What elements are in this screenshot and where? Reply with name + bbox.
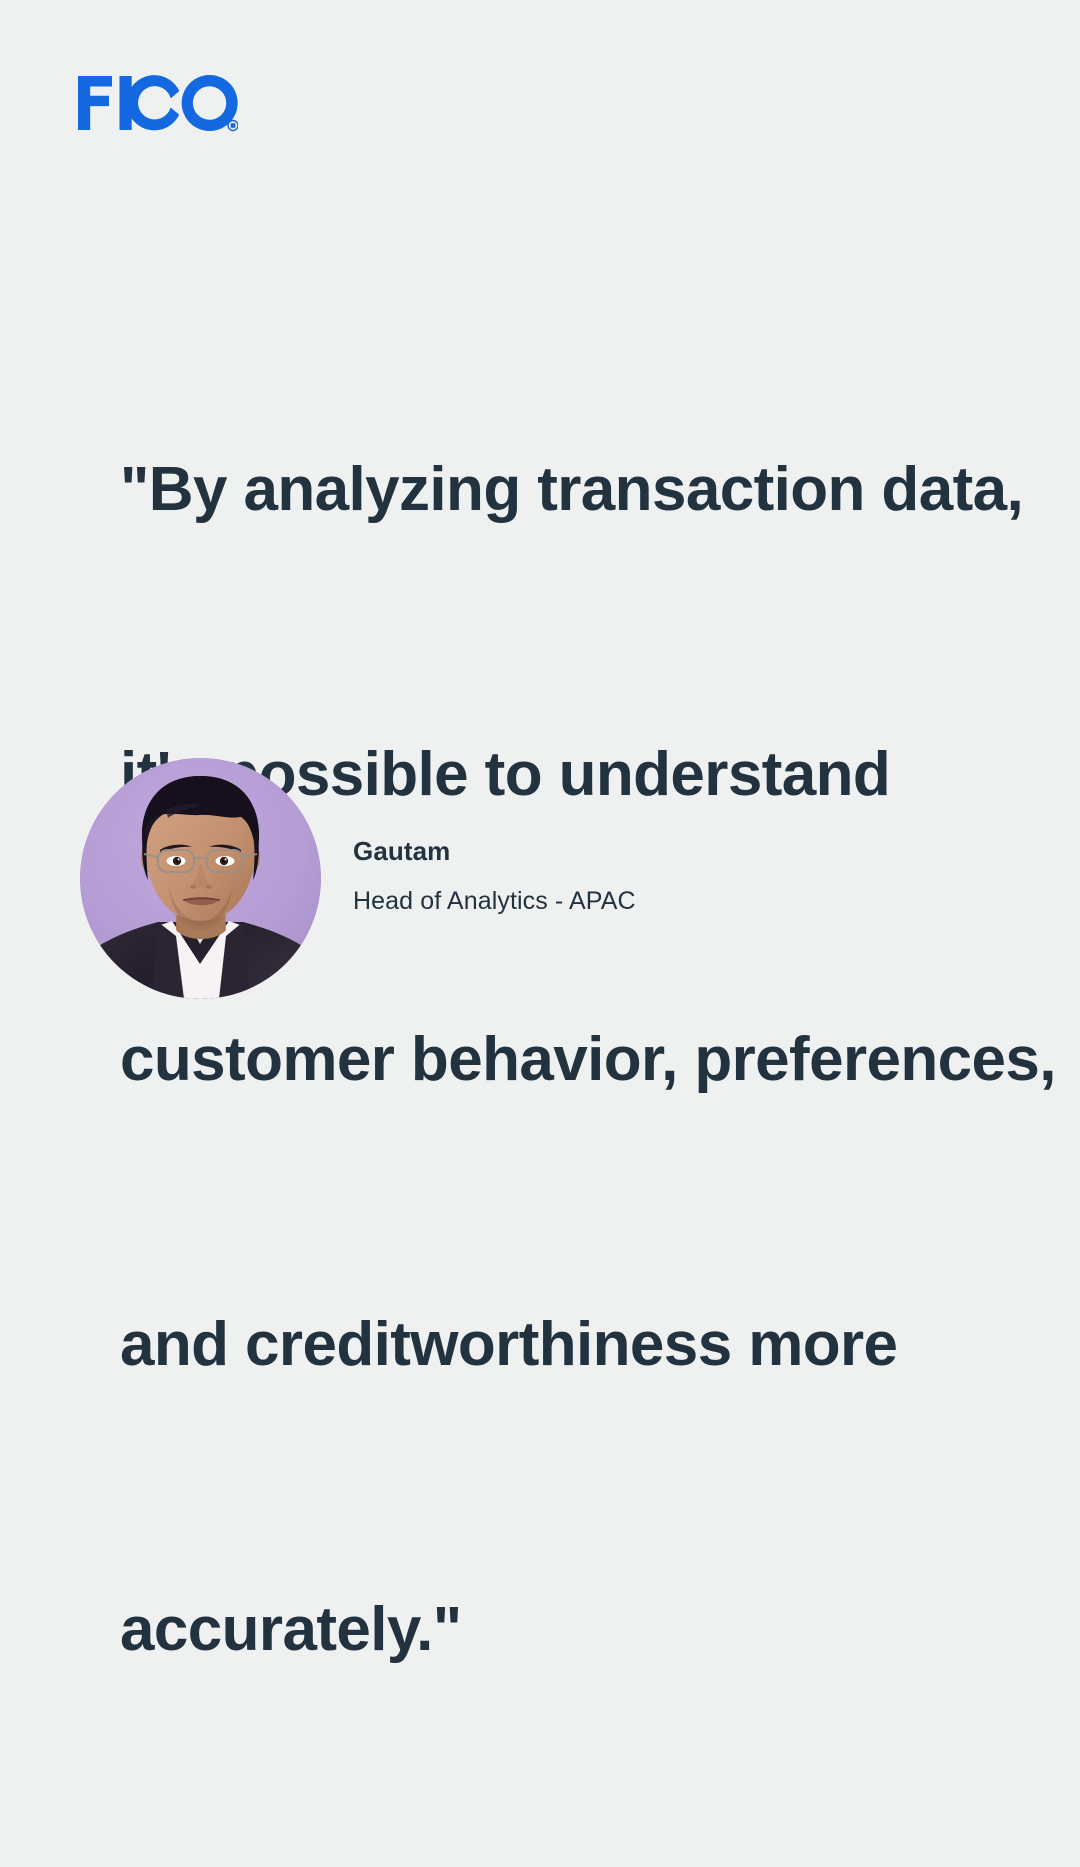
person-role: Head of Analytics - APAC xyxy=(353,884,636,918)
person-details: Gautam Head of Analytics - APAC xyxy=(353,834,636,922)
quote-line-5: accurately." xyxy=(120,1582,1060,1677)
quote-text: "By analyzing transaction data, it's pos… xyxy=(120,252,1060,1867)
quote-line-3: customer behavior, preferences, xyxy=(120,1012,1060,1107)
registered-trademark-icon xyxy=(228,121,238,131)
quote-line-1: "By analyzing transaction data, xyxy=(120,442,1060,537)
person-name: Gautam xyxy=(353,834,636,868)
avatar xyxy=(80,758,321,999)
quote-line-4: and creditworthiness more xyxy=(120,1297,1060,1392)
attribution-block: Gautam Head of Analytics - APAC xyxy=(80,757,980,999)
fico-logo xyxy=(78,74,238,132)
quote-card: "By analyzing transaction data, it's pos… xyxy=(0,0,1080,1080)
